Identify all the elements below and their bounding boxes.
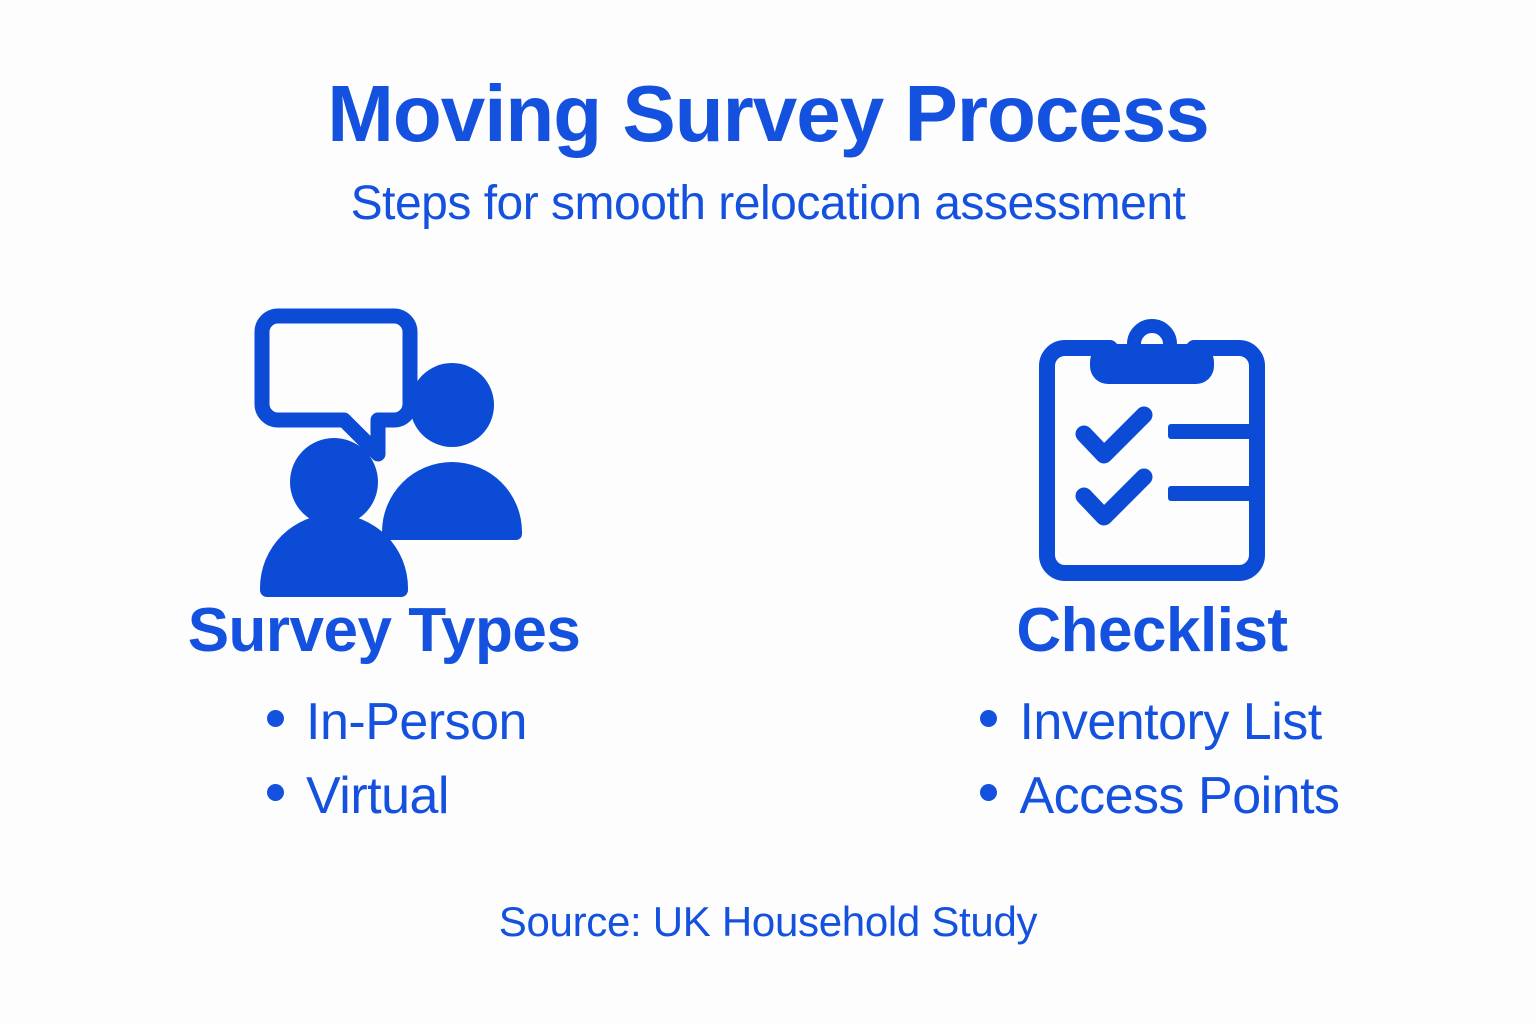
page-title: Moving Survey Process	[0, 74, 1536, 154]
list-item: Access Points	[980, 770, 1339, 822]
page-subtitle: Steps for smooth relocation assessment	[0, 180, 1536, 228]
bullet-label: Access Points	[1019, 770, 1339, 822]
column-heading-checklist: Checklist	[1016, 600, 1287, 662]
clipboard-checklist-icon	[1002, 300, 1302, 600]
bullet-label: Inventory List	[1019, 696, 1321, 748]
columns-container: Survey Types In-Person Virtual	[0, 300, 1536, 880]
bullet-dot-icon	[267, 710, 284, 727]
list-item: Virtual	[267, 770, 527, 822]
list-item: Inventory List	[980, 696, 1339, 748]
source-caption: Source: UK Household Study	[0, 898, 1536, 946]
bullet-dot-icon	[267, 784, 284, 801]
bullet-dot-icon	[980, 710, 997, 727]
column-heading-survey-types: Survey Types	[188, 600, 581, 662]
column-checklist: Checklist Inventory List Access Points	[768, 300, 1536, 880]
header: Moving Survey Process Steps for smooth r…	[0, 74, 1536, 228]
bullet-list-checklist: Inventory List Access Points	[980, 696, 1339, 844]
people-discussion-icon	[234, 300, 534, 600]
bullet-dot-icon	[980, 784, 997, 801]
bullet-list-survey-types: In-Person Virtual	[267, 696, 527, 844]
list-item: In-Person	[267, 696, 527, 748]
column-survey-types: Survey Types In-Person Virtual	[0, 300, 768, 880]
bullet-label: Virtual	[306, 770, 449, 822]
bullet-label: In-Person	[306, 696, 527, 748]
infographic-canvas: Moving Survey Process Steps for smooth r…	[0, 0, 1536, 1024]
